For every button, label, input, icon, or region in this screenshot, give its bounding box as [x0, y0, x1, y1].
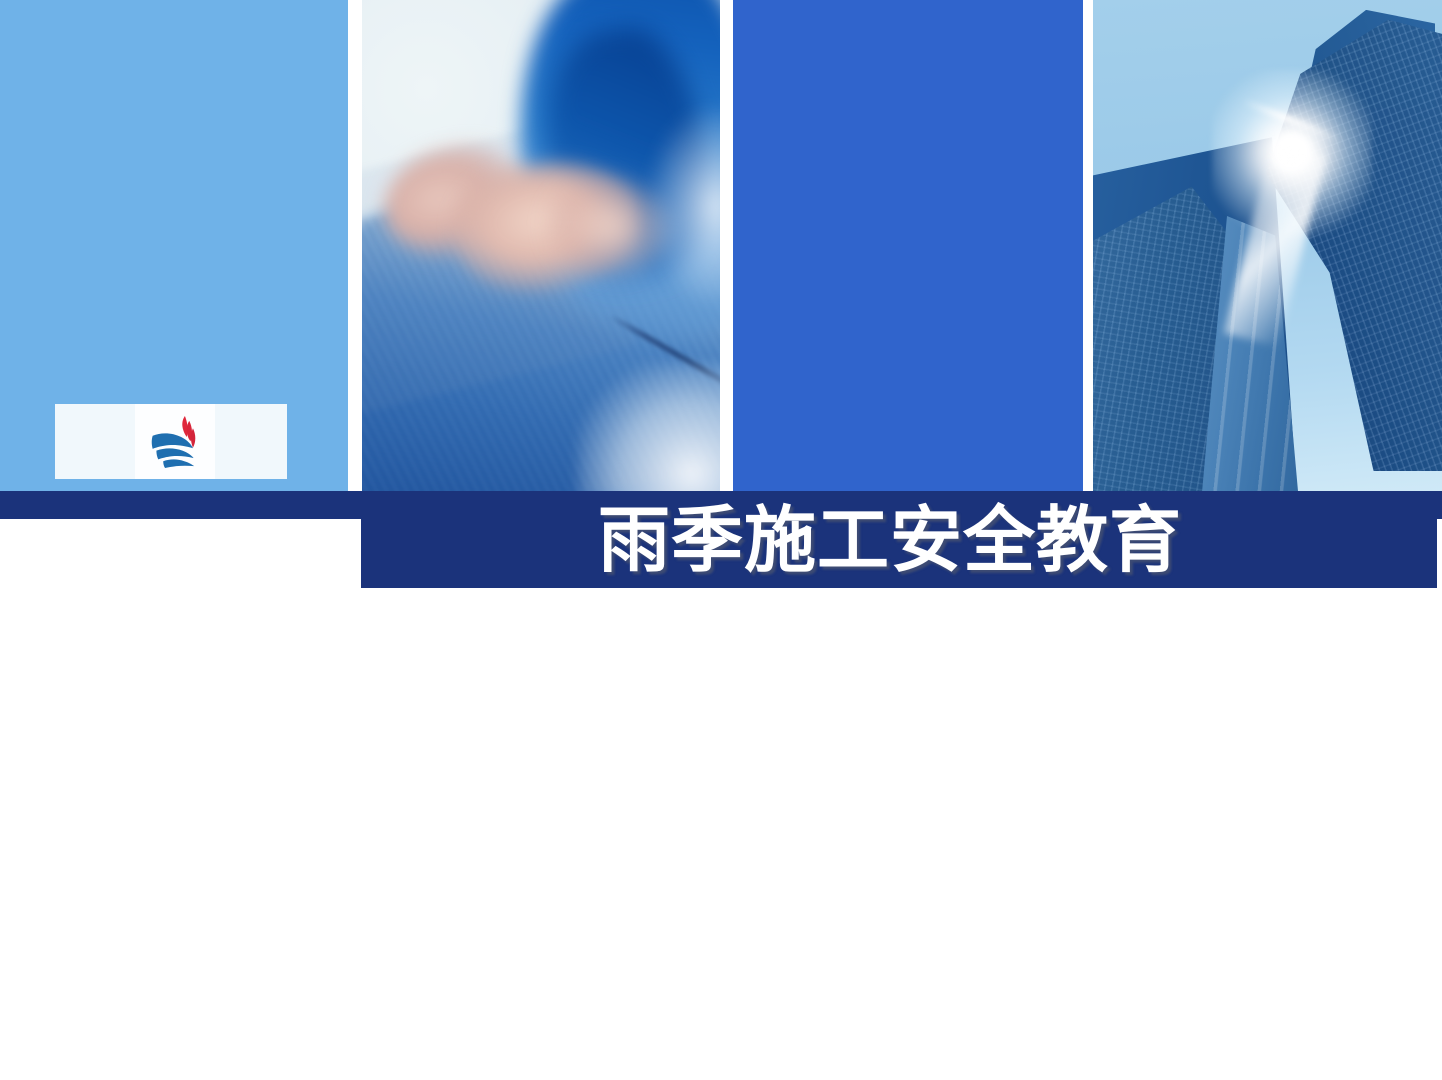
- slide-title: 雨季施工安全教育: [361, 498, 1182, 582]
- keyboard-photo-panel: [362, 0, 720, 491]
- logo-inner-square: [135, 404, 215, 479]
- title-banner: 雨季施工安全教育: [361, 491, 1437, 588]
- company-logo-icon: [144, 411, 206, 473]
- light-blue-panel: [0, 0, 348, 491]
- royal-blue-panel: [733, 0, 1083, 491]
- presentation-slide: 雨季施工安全教育: [0, 0, 1442, 1080]
- skyscraper-photo-panel: [1093, 0, 1442, 491]
- keyboard-photo-right-highlight: [648, 108, 720, 304]
- logo-plate: [55, 404, 287, 479]
- keyboard-photo-corner-highlight: [577, 363, 720, 491]
- slide-body-area: [0, 588, 1442, 1080]
